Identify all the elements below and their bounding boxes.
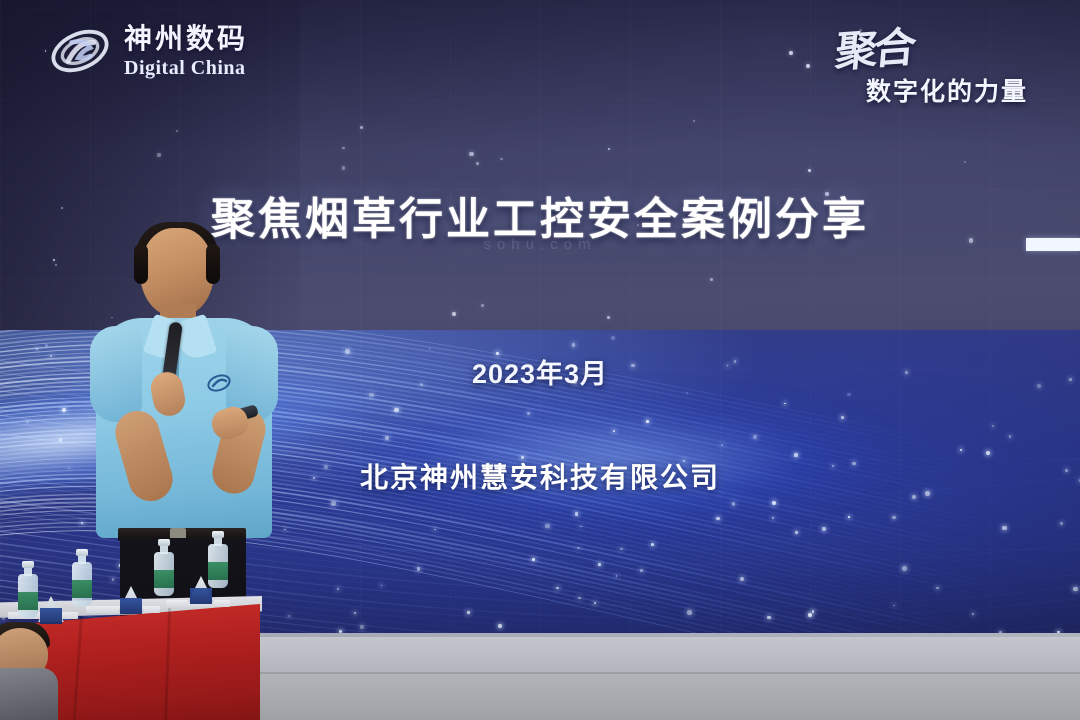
backdrop-particle xyxy=(789,51,793,55)
bottle-cap xyxy=(76,549,88,556)
wave-particle xyxy=(598,563,601,566)
wave-particle xyxy=(753,435,757,439)
wave-particle xyxy=(812,610,814,612)
backdrop-particle xyxy=(360,126,362,128)
wave-particle xyxy=(337,588,340,591)
wave-particle xyxy=(616,575,618,577)
water-bottle xyxy=(154,540,174,596)
wave-particle xyxy=(972,613,974,615)
audience-member-body xyxy=(0,668,58,720)
speaker-hair-side-right xyxy=(206,244,220,284)
slide-right-accent-bar xyxy=(1026,238,1080,251)
wave-particle xyxy=(1009,435,1012,438)
backdrop-particle xyxy=(176,130,178,132)
bottle-cap xyxy=(22,561,34,568)
backdrop-particle xyxy=(342,147,345,150)
backdrop-particle xyxy=(157,153,161,157)
wave-particle xyxy=(640,569,643,572)
wave-particle xyxy=(369,393,373,397)
wave-particle xyxy=(740,577,744,581)
water-bottle xyxy=(208,532,228,588)
speaker-head xyxy=(140,228,214,316)
wave-particle xyxy=(284,529,286,531)
wave-particle xyxy=(354,612,356,614)
backdrop-particle xyxy=(607,316,610,319)
backdrop-particle xyxy=(469,152,473,156)
wave-particle xyxy=(62,408,66,412)
bottle-label xyxy=(154,570,174,588)
conference-stage-photo: 聚焦烟草行业工控安全案例分享 sohu.com 2023年3月 北京神州慧安科技… xyxy=(0,0,1080,720)
wave-particle xyxy=(732,502,736,506)
swirl-icon xyxy=(46,22,114,80)
wave-particle xyxy=(848,516,850,518)
table-name-card-band xyxy=(120,598,142,614)
wave-particle xyxy=(1073,587,1078,592)
wave-particle xyxy=(1002,526,1006,530)
wave-particle xyxy=(986,451,990,455)
wave-particle xyxy=(360,625,364,629)
wave-particle xyxy=(772,517,774,519)
bottle-label xyxy=(72,580,92,598)
wave-particle xyxy=(721,444,723,446)
wave-particle xyxy=(1060,522,1063,525)
wave-particle xyxy=(784,403,786,405)
wave-particle xyxy=(27,421,29,423)
backdrop-particle xyxy=(964,161,966,163)
wave-particle xyxy=(892,516,896,520)
wave-particle xyxy=(822,527,826,531)
wave-particle xyxy=(893,605,895,607)
backdrop-particle xyxy=(808,169,811,172)
wave-particle xyxy=(417,567,420,570)
wave-particle xyxy=(81,522,83,524)
table-name-card-band xyxy=(190,588,212,604)
wave-particle xyxy=(59,438,63,442)
wave-particle xyxy=(288,615,289,616)
bottle-label xyxy=(208,562,228,580)
speaker-sleeve-left xyxy=(90,326,142,422)
digital-china-wordmark: 神州数码 Digital China xyxy=(124,25,248,78)
wave-particle xyxy=(575,512,578,515)
wave-particle xyxy=(577,547,580,550)
backdrop-particle xyxy=(481,304,484,307)
wave-particle xyxy=(620,548,623,551)
wave-particle xyxy=(498,624,502,628)
wave-particle xyxy=(772,501,776,505)
wave-particle xyxy=(936,587,938,589)
wave-particle xyxy=(532,558,535,561)
wave-particle xyxy=(687,610,692,615)
wave-particle xyxy=(594,602,595,603)
event-logo: 聚合 数字化的力量 xyxy=(808,16,1058,112)
event-logo-tagline: 数字化的力量 xyxy=(866,72,1028,108)
wave-particle xyxy=(572,343,576,347)
backdrop-particle xyxy=(500,158,502,160)
wave-particle xyxy=(385,436,389,440)
wave-particle xyxy=(716,517,720,521)
wave-particle xyxy=(960,449,962,451)
shirt-logo-patch-icon xyxy=(206,372,232,394)
wave-particle xyxy=(651,543,654,546)
logo-name-en: Digital China xyxy=(124,58,248,78)
wave-particle xyxy=(795,531,798,534)
backdrop-particle xyxy=(55,264,57,266)
bottle-cap xyxy=(212,531,224,538)
backdrop-particle xyxy=(608,148,610,150)
wave-particle xyxy=(613,430,615,432)
digital-china-logo: 神州数码 Digital China xyxy=(46,22,248,80)
wave-particle xyxy=(434,529,436,531)
backdrop-particle xyxy=(476,162,479,165)
wave-particle xyxy=(902,566,907,571)
speaker-hair-side-left xyxy=(134,244,148,284)
backdrop-particle xyxy=(342,166,345,169)
wave-particle xyxy=(556,587,559,590)
wave-particle xyxy=(381,585,383,587)
event-logo-brush-text: 聚合 xyxy=(833,13,915,79)
wave-particle xyxy=(767,616,771,620)
wave-particle xyxy=(841,416,844,419)
wave-particle xyxy=(36,348,38,350)
bottle-label xyxy=(18,592,38,610)
backdrop-particle xyxy=(693,120,695,122)
wave-particle xyxy=(331,501,335,505)
backdrop-particle xyxy=(452,312,456,316)
backdrop-particle xyxy=(53,259,55,261)
wave-particle xyxy=(467,611,470,614)
wave-particle xyxy=(646,420,649,423)
wave-particle xyxy=(992,425,994,427)
bottle-cap xyxy=(158,539,170,546)
wave-particle xyxy=(394,408,398,412)
water-bottle xyxy=(72,550,92,606)
logo-name-cn: 神州数码 xyxy=(124,25,248,53)
wave-particle xyxy=(545,524,549,528)
water-bottle xyxy=(18,562,38,618)
wave-particle xyxy=(527,412,530,415)
table-name-card-band xyxy=(40,608,62,624)
backdrop-particle xyxy=(710,278,713,281)
wave-particle xyxy=(580,526,582,528)
wave-particle xyxy=(808,613,812,617)
wave-particle xyxy=(578,597,581,600)
